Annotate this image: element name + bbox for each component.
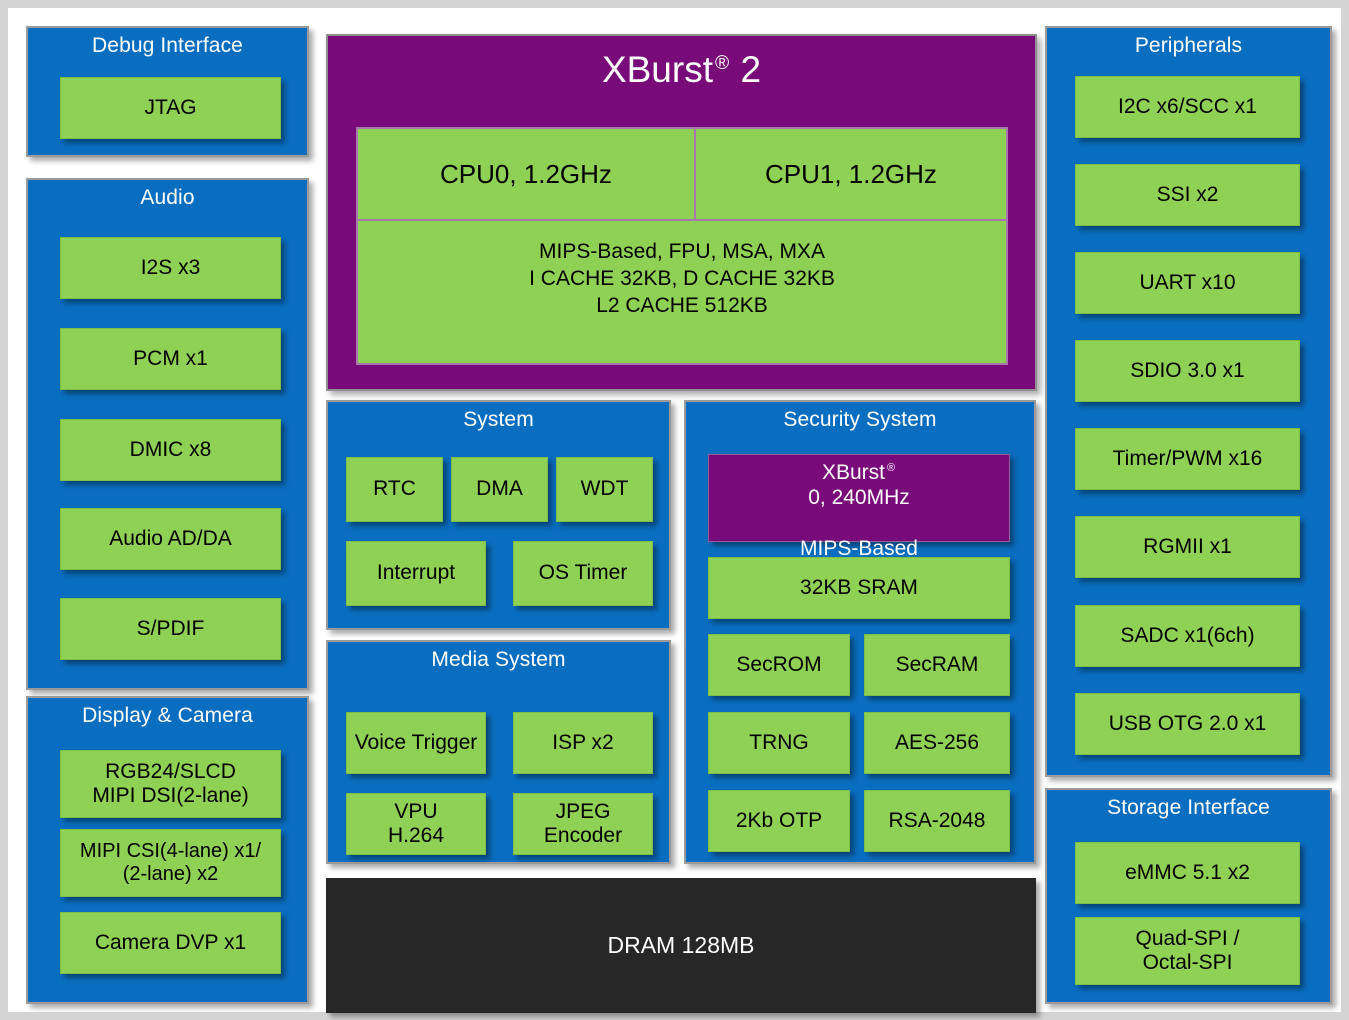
panel-title-display-camera: Display & Camera (28, 698, 307, 732)
tile-dmic: DMIC x8 (60, 419, 281, 481)
tile-cpu1: CPU1, 1.2GHz (696, 129, 1006, 219)
block-dram: DRAM 128MB (326, 878, 1036, 1013)
panel-title-debug-interface: Debug Interface (28, 28, 307, 62)
panel-title-peripherals: Peripherals (1047, 28, 1330, 62)
tile-cpu0: CPU0, 1.2GHz (358, 129, 696, 219)
tile-i2s: I2S x3 (60, 237, 281, 299)
panel-title-media-system: Media System (328, 642, 669, 676)
panel-audio: Audio I2S x3 PCM x1 DMIC x8 Audio AD/DA … (26, 178, 309, 690)
panel-security-system: Security System XBurst® 0, 240MHz MIPS-B… (684, 400, 1036, 864)
tile-jpeg-encoder: JPEG Encoder (513, 793, 653, 855)
panel-title-system: System (328, 402, 669, 436)
tile-isp: ISP x2 (513, 712, 653, 774)
diagram-canvas: Debug Interface JTAG Audio I2S x3 PCM x1… (8, 8, 1341, 1012)
tile-quad-octal-spi: Quad-SPI / Octal-SPI (1075, 917, 1300, 985)
security-core-title-rest: 0, 240MHz (808, 486, 910, 509)
tile-xburst0-core: XBurst® 0, 240MHz MIPS-Based (708, 454, 1010, 542)
panel-storage-interface: Storage Interface eMMC 5.1 x2 Quad-SPI /… (1045, 788, 1332, 1004)
tile-emmc: eMMC 5.1 x2 (1075, 842, 1300, 904)
panel-peripherals: Peripherals I2C x6/SCC x1 SSI x2 UART x1… (1045, 26, 1332, 777)
tile-wdt: WDT (556, 457, 653, 522)
tile-pcm: PCM x1 (60, 328, 281, 390)
tile-trng: TRNG (708, 712, 850, 774)
tile-secrom: SecROM (708, 634, 850, 696)
tile-rtc: RTC (346, 457, 443, 522)
panel-xburst2-core: XBurst® 2 CPU0, 1.2GHz CPU1, 1.2GHz MIPS… (326, 34, 1037, 391)
tile-jtag: JTAG (60, 77, 281, 139)
tile-usb-otg: USB OTG 2.0 x1 (1075, 693, 1300, 755)
tile-audio-ad-da: Audio AD/DA (60, 508, 281, 570)
panel-title-audio: Audio (28, 180, 307, 214)
tile-sadc: SADC x1(6ch) (1075, 605, 1300, 667)
tile-32kb-sram: 32KB SRAM (708, 557, 1010, 619)
tile-rgb24-slcd-mipi-dsi: RGB24/SLCD MIPI DSI(2-lane) (60, 750, 281, 818)
panel-title-storage-interface: Storage Interface (1047, 790, 1330, 824)
tile-interrupt: Interrupt (346, 541, 486, 606)
core-features: MIPS-Based, FPU, MSA, MXA I CACHE 32KB, … (358, 221, 1006, 363)
tile-rsa-2048: RSA-2048 (864, 790, 1010, 852)
tile-sdio: SDIO 3.0 x1 (1075, 340, 1300, 402)
panel-media-system: Media System Voice Trigger ISP x2 VPU H.… (326, 640, 671, 864)
core-title: XBurst® 2 (328, 36, 1035, 91)
core-title-suffix: 2 (740, 49, 761, 90)
tile-secram: SecRAM (864, 634, 1010, 696)
tile-dma: DMA (451, 457, 548, 522)
panel-display-camera: Display & Camera RGB24/SLCD MIPI DSI(2-l… (26, 696, 309, 1004)
tile-uart: UART x10 (1075, 252, 1300, 314)
tile-spdif: S/PDIF (60, 598, 281, 660)
registered-trademark-icon: ® (885, 462, 896, 474)
tile-2kb-otp: 2Kb OTP (708, 790, 850, 852)
security-core-title-main: XBurst (822, 461, 885, 484)
tile-os-timer: OS Timer (513, 541, 653, 606)
panel-debug-interface: Debug Interface JTAG (26, 26, 309, 157)
core-title-main: XBurst (602, 49, 713, 90)
cpu-row: CPU0, 1.2GHz CPU1, 1.2GHz (358, 129, 1006, 221)
tile-mipi-csi: MIPI CSI(4-lane) x1/ (2-lane) x2 (60, 829, 281, 897)
security-core-title-line1: XBurst® 0, 240MHz (800, 435, 918, 511)
tile-rgmii: RGMII x1 (1075, 516, 1300, 578)
tile-vpu-h264: VPU H.264 (346, 793, 486, 855)
registered-trademark-icon: ® (713, 53, 730, 74)
tile-ssi: SSI x2 (1075, 164, 1300, 226)
tile-i2c-scc: I2C x6/SCC x1 (1075, 76, 1300, 138)
cpu-grid: CPU0, 1.2GHz CPU1, 1.2GHz MIPS-Based, FP… (356, 127, 1008, 365)
tile-timer-pwm: Timer/PWM x16 (1075, 428, 1300, 490)
tile-aes-256: AES-256 (864, 712, 1010, 774)
panel-system: System RTC DMA WDT Interrupt OS Timer (326, 400, 671, 630)
tile-camera-dvp: Camera DVP x1 (60, 912, 281, 974)
tile-voice-trigger: Voice Trigger (346, 712, 486, 774)
